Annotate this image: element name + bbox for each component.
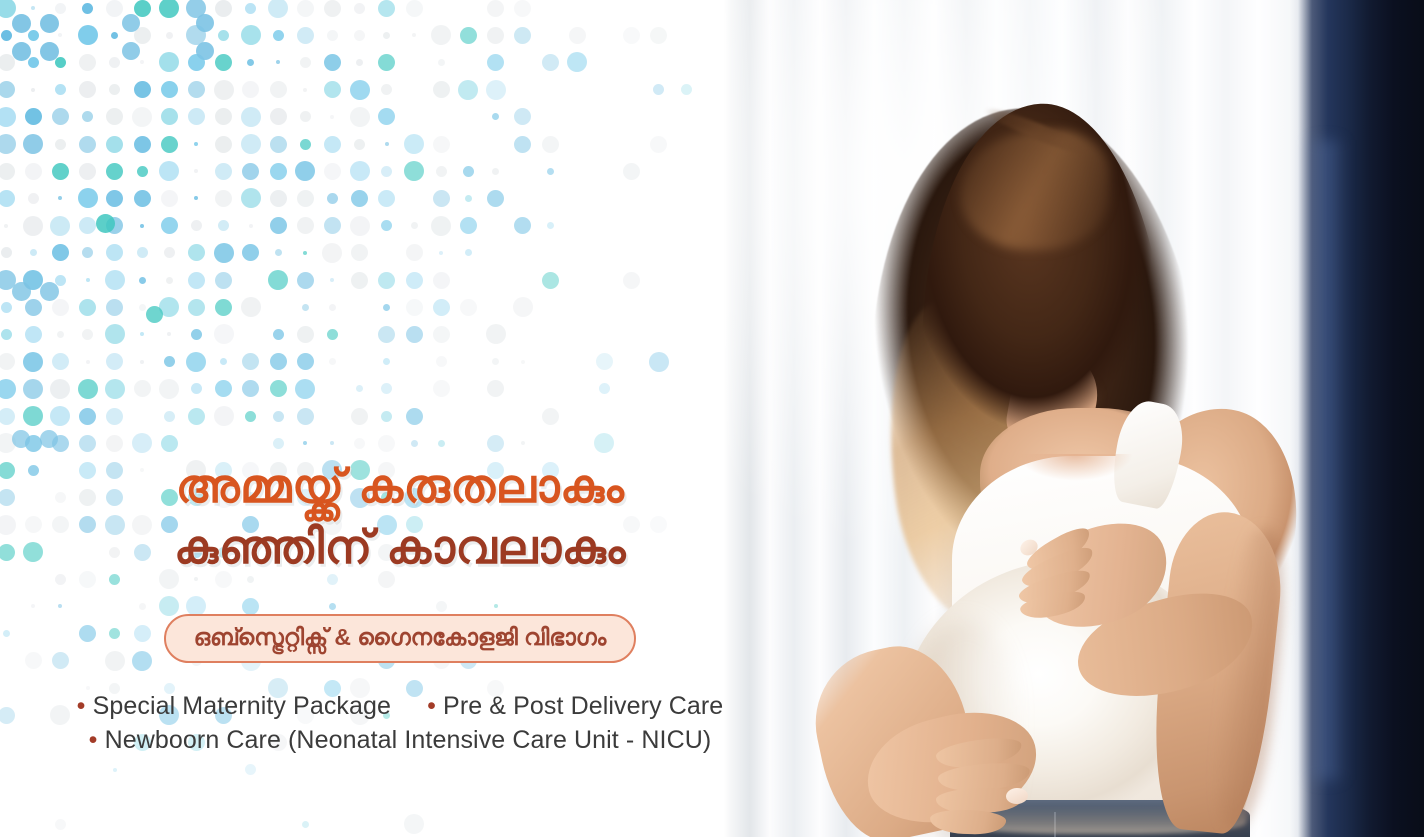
pattern-dot bbox=[1, 30, 12, 41]
pattern-dot bbox=[275, 249, 282, 256]
pattern-dot bbox=[96, 214, 115, 233]
pattern-dot bbox=[247, 59, 254, 66]
pattern-dot bbox=[241, 107, 261, 127]
pattern-dot bbox=[327, 574, 338, 585]
pattern-dot bbox=[330, 278, 334, 282]
pattern-dot bbox=[161, 81, 178, 98]
pattern-dot bbox=[324, 0, 341, 17]
pattern-dot bbox=[159, 379, 179, 399]
pattern-dot bbox=[514, 136, 531, 153]
pattern-dot bbox=[487, 27, 504, 44]
pattern-dot bbox=[166, 277, 173, 284]
pattern-dot bbox=[0, 433, 16, 453]
pattern-dot bbox=[378, 108, 395, 125]
pattern-dot bbox=[40, 42, 59, 61]
pattern-dot bbox=[220, 358, 227, 365]
pattern-dot bbox=[569, 27, 586, 44]
pattern-dot bbox=[139, 304, 146, 311]
pattern-dot bbox=[599, 383, 610, 394]
pattern-dot bbox=[356, 59, 363, 66]
pattern-dot bbox=[79, 571, 96, 588]
pattern-dot bbox=[188, 54, 205, 71]
pattern-dot bbox=[406, 408, 423, 425]
feature-item-special-maternity-package: Special Maternity Package bbox=[93, 692, 391, 720]
pattern-dot bbox=[327, 30, 338, 41]
pattern-dot bbox=[297, 408, 314, 425]
pattern-dot bbox=[31, 6, 35, 10]
pattern-dot bbox=[351, 408, 368, 425]
pattern-dot bbox=[52, 244, 69, 261]
pattern-dot bbox=[214, 406, 234, 426]
pattern-dot bbox=[0, 134, 16, 154]
pattern-dot bbox=[245, 764, 256, 775]
pattern-dot bbox=[79, 217, 96, 234]
pattern-dot bbox=[436, 601, 447, 612]
pattern-dot bbox=[681, 84, 692, 95]
maternity-banner: അമ്മയ്ക്ക് കരുതലാകും കുഞ്ഞിന് കാവലാകും ഒ… bbox=[0, 0, 1424, 837]
pattern-dot bbox=[194, 169, 198, 173]
pattern-dot bbox=[106, 217, 123, 234]
pattern-dot bbox=[322, 243, 342, 263]
pattern-dot bbox=[381, 220, 392, 231]
pattern-dot bbox=[188, 272, 205, 289]
pattern-dot bbox=[297, 272, 314, 289]
pattern-dot bbox=[514, 27, 531, 44]
pattern-dot bbox=[411, 440, 418, 447]
pattern-dot bbox=[295, 161, 315, 181]
pattern-dot bbox=[106, 408, 123, 425]
pattern-dot bbox=[215, 190, 232, 207]
pattern-dot bbox=[350, 161, 370, 181]
pattern-dot bbox=[79, 435, 96, 452]
pattern-dot bbox=[137, 166, 148, 177]
pattern-dot bbox=[513, 297, 533, 317]
pattern-dot bbox=[194, 142, 198, 146]
pattern-dot bbox=[109, 574, 120, 585]
pattern-dot bbox=[487, 54, 504, 71]
pattern-dot bbox=[55, 57, 66, 68]
pattern-dot bbox=[378, 326, 395, 343]
pattern-dot bbox=[106, 163, 123, 180]
pattern-dot bbox=[247, 576, 254, 583]
pattern-dot bbox=[134, 190, 151, 207]
pattern-dot bbox=[23, 216, 43, 236]
headline-line-2: കുഞ്ഞിന് കാവലാകും bbox=[0, 523, 800, 570]
pattern-dot bbox=[300, 57, 311, 68]
pattern-dot bbox=[28, 193, 39, 204]
pattern-dot bbox=[4, 224, 8, 228]
pattern-dot bbox=[82, 111, 93, 122]
pattern-dot bbox=[0, 0, 16, 18]
pattern-dot bbox=[383, 32, 390, 39]
pattern-dot bbox=[324, 136, 341, 153]
pattern-dot bbox=[378, 0, 395, 17]
pattern-dot bbox=[406, 272, 423, 289]
pattern-dot bbox=[542, 136, 559, 153]
pattern-dot bbox=[350, 216, 370, 236]
pattern-dot bbox=[215, 272, 232, 289]
pattern-dot bbox=[354, 139, 365, 150]
pattern-dot bbox=[0, 379, 16, 399]
pattern-dot bbox=[166, 32, 173, 39]
pattern-dot bbox=[215, 571, 232, 588]
pattern-dot bbox=[106, 353, 123, 370]
pattern-dot bbox=[404, 161, 424, 181]
pattern-dot bbox=[191, 220, 202, 231]
pattern-dot bbox=[356, 385, 363, 392]
pattern-dot bbox=[302, 821, 309, 828]
pattern-dot bbox=[324, 54, 341, 71]
pattern-dot bbox=[140, 60, 144, 64]
pattern-dot bbox=[137, 247, 148, 258]
pattern-dot bbox=[381, 84, 392, 95]
pattern-dot bbox=[596, 353, 613, 370]
pattern-dot bbox=[146, 306, 163, 323]
pattern-dot bbox=[270, 108, 287, 125]
pattern-dot bbox=[297, 326, 314, 343]
pattern-dot bbox=[433, 136, 450, 153]
pattern-dot bbox=[297, 27, 314, 44]
pattern-dot bbox=[273, 329, 284, 340]
pattern-dot bbox=[188, 408, 205, 425]
pattern-dot bbox=[159, 297, 179, 317]
pattern-dot bbox=[25, 108, 42, 125]
pattern-dot bbox=[214, 80, 234, 100]
pattern-dot bbox=[55, 139, 66, 150]
pattern-dot bbox=[1, 302, 12, 313]
pattern-dot bbox=[487, 0, 504, 17]
pattern-dot bbox=[12, 430, 30, 448]
pattern-dot bbox=[188, 108, 205, 125]
pattern-dot bbox=[218, 220, 229, 231]
pattern-dot bbox=[40, 430, 58, 448]
pattern-dot bbox=[514, 0, 531, 17]
pattern-dot bbox=[140, 332, 144, 336]
pattern-dot bbox=[378, 272, 395, 289]
pattern-dot bbox=[57, 331, 64, 338]
pattern-dot bbox=[460, 299, 477, 316]
pattern-dot bbox=[383, 358, 390, 365]
pattern-dot bbox=[188, 244, 205, 261]
pattern-dot bbox=[270, 353, 287, 370]
pattern-dot bbox=[378, 190, 395, 207]
pattern-dot bbox=[650, 27, 667, 44]
feature-row-1: • Special Maternity Package • Pre & Post… bbox=[0, 690, 800, 724]
pattern-dot bbox=[215, 0, 232, 17]
pattern-dot bbox=[31, 88, 35, 92]
pattern-dot bbox=[329, 358, 336, 365]
feature-item-newborn-care-nicu: Newboorn Care (Neonatal Intensive Care U… bbox=[105, 726, 712, 754]
feature-row-2: • Newboorn Care (Neonatal Intensive Care… bbox=[0, 724, 800, 758]
pattern-dot bbox=[164, 247, 175, 258]
pattern-dot bbox=[109, 57, 120, 68]
pattern-dot bbox=[106, 190, 123, 207]
pattern-dot bbox=[161, 108, 178, 125]
pattern-dot bbox=[412, 33, 416, 37]
pattern-dot bbox=[270, 380, 287, 397]
pattern-dot bbox=[487, 190, 504, 207]
pattern-dot bbox=[542, 272, 559, 289]
pattern-dot bbox=[438, 440, 445, 447]
pattern-dot bbox=[105, 270, 125, 290]
pattern-dot bbox=[215, 54, 232, 71]
pattern-dot bbox=[594, 433, 614, 453]
pattern-dot bbox=[134, 380, 151, 397]
pattern-dot bbox=[82, 329, 93, 340]
pattern-dot bbox=[55, 574, 66, 585]
pattern-dot bbox=[297, 217, 314, 234]
pattern-dot bbox=[245, 3, 256, 14]
pattern-dot bbox=[122, 14, 140, 32]
pattern-dot bbox=[215, 136, 232, 153]
pattern-dot bbox=[542, 54, 559, 71]
pattern-dot bbox=[139, 603, 146, 610]
pattern-dot bbox=[406, 326, 423, 343]
pattern-dot bbox=[186, 352, 206, 372]
pattern-dot bbox=[404, 814, 424, 834]
pattern-dot bbox=[385, 142, 389, 146]
pattern-dot bbox=[58, 196, 62, 200]
pattern-dot bbox=[487, 435, 504, 452]
pattern-dot bbox=[270, 163, 287, 180]
pattern-dot bbox=[1, 247, 12, 258]
pattern-dot bbox=[324, 163, 341, 180]
pattern-dot bbox=[303, 88, 307, 92]
pattern-dot bbox=[486, 324, 506, 344]
pattern-dot bbox=[0, 353, 15, 370]
pattern-dot bbox=[12, 14, 31, 33]
pattern-dot bbox=[86, 278, 90, 282]
pattern-dot bbox=[134, 136, 151, 153]
pattern-dot bbox=[327, 329, 338, 340]
pattern-dot bbox=[55, 84, 66, 95]
pattern-dot bbox=[106, 0, 123, 17]
pattern-dot bbox=[330, 115, 334, 119]
pattern-dot bbox=[23, 134, 43, 154]
pattern-dot bbox=[52, 353, 69, 370]
pattern-dot bbox=[12, 282, 31, 301]
pattern-dot bbox=[215, 299, 232, 316]
pattern-dot bbox=[23, 406, 43, 426]
pattern-dot bbox=[486, 80, 506, 100]
pattern-dot bbox=[1, 329, 12, 340]
pattern-dot bbox=[159, 0, 179, 18]
pattern-dot bbox=[132, 433, 152, 453]
pattern-dot bbox=[623, 27, 640, 44]
pattern-dot bbox=[354, 438, 365, 449]
pattern-dot bbox=[186, 0, 206, 18]
pattern-dot bbox=[378, 54, 395, 71]
pattern-dot bbox=[492, 168, 499, 175]
pattern-dot bbox=[458, 80, 478, 100]
pattern-dot bbox=[78, 25, 98, 45]
pattern-dot bbox=[465, 249, 472, 256]
pattern-dot bbox=[438, 59, 445, 66]
pattern-dot bbox=[0, 54, 15, 71]
pattern-dot bbox=[167, 332, 171, 336]
department-badge: ഒബ്സ്ട്രെറ്റിക്സ് & ഗൈനകോളജി വിഭാഗം bbox=[164, 614, 637, 663]
pattern-dot bbox=[111, 32, 118, 39]
pattern-dot bbox=[487, 380, 504, 397]
pattern-dot bbox=[140, 360, 144, 364]
pattern-dot bbox=[649, 352, 669, 372]
pattern-dot bbox=[431, 216, 451, 236]
pattern-dot bbox=[215, 108, 232, 125]
pattern-dot bbox=[547, 222, 554, 229]
pattern-dot bbox=[463, 166, 474, 177]
pattern-dot bbox=[132, 107, 152, 127]
pattern-dot bbox=[109, 84, 120, 95]
pattern-dot bbox=[194, 196, 198, 200]
pattern-dot bbox=[164, 411, 175, 422]
pattern-dot bbox=[492, 113, 499, 120]
pattern-dot bbox=[188, 81, 205, 98]
pattern-dot bbox=[242, 81, 259, 98]
pattern-dot bbox=[245, 411, 256, 422]
pattern-dot bbox=[79, 81, 96, 98]
pattern-dot bbox=[241, 134, 261, 154]
pattern-dot bbox=[122, 42, 140, 60]
pattern-dot bbox=[196, 42, 214, 60]
pattern-dot bbox=[381, 411, 392, 422]
pattern-dot bbox=[106, 244, 123, 261]
pattern-dot bbox=[406, 299, 423, 316]
pattern-dot bbox=[433, 190, 450, 207]
pattern-dot bbox=[270, 136, 287, 153]
pattern-dot bbox=[134, 0, 151, 17]
pattern-dot bbox=[82, 3, 93, 14]
pattern-dot bbox=[164, 356, 175, 367]
pattern-dot bbox=[567, 52, 587, 72]
pattern-dot bbox=[249, 224, 253, 228]
pattern-dot bbox=[140, 224, 144, 228]
pattern-dot bbox=[78, 379, 98, 399]
pattern-dot bbox=[460, 217, 477, 234]
pattern-dot bbox=[351, 244, 368, 261]
pattern-dot bbox=[23, 270, 43, 290]
pattern-dot bbox=[329, 603, 336, 610]
pattern-dot bbox=[433, 81, 450, 98]
pattern-dot bbox=[0, 81, 15, 98]
pattern-dot bbox=[242, 244, 259, 261]
pattern-dot bbox=[433, 272, 450, 289]
pattern-dot bbox=[79, 408, 96, 425]
pattern-dot bbox=[460, 27, 477, 44]
pattern-dot bbox=[105, 379, 125, 399]
pattern-dot bbox=[40, 14, 59, 33]
pattern-dot bbox=[378, 435, 395, 452]
pattern-dot bbox=[50, 216, 70, 236]
headline-line-1: അമ്മയ്ക്ക് കരുതലാകും bbox=[0, 462, 800, 509]
pattern-dot bbox=[23, 352, 43, 372]
pattern-dot bbox=[52, 435, 69, 452]
pattern-dot bbox=[273, 30, 284, 41]
pattern-dot bbox=[431, 25, 451, 45]
pattern-dot bbox=[161, 435, 178, 452]
pattern-dot bbox=[303, 441, 307, 445]
pattern-dot bbox=[105, 324, 125, 344]
pattern-dot bbox=[404, 134, 424, 154]
pattern-dot bbox=[351, 272, 368, 289]
pattern-dot bbox=[324, 81, 341, 98]
pattern-dot bbox=[330, 441, 334, 445]
pattern-dot bbox=[55, 275, 66, 286]
pattern-dot bbox=[351, 190, 368, 207]
pattern-dot bbox=[113, 768, 117, 772]
pattern-dot bbox=[273, 411, 284, 422]
pattern-dot bbox=[28, 30, 39, 41]
pattern-dot bbox=[31, 604, 35, 608]
pattern-dot bbox=[215, 163, 232, 180]
pattern-dot bbox=[242, 380, 259, 397]
pattern-dot bbox=[139, 277, 146, 284]
pattern-dot bbox=[0, 163, 15, 180]
pattern-dot bbox=[354, 3, 365, 14]
pattern-dot bbox=[268, 0, 288, 18]
pattern-dot bbox=[25, 435, 42, 452]
pattern-dot bbox=[242, 353, 259, 370]
pattern-dot bbox=[381, 383, 392, 394]
pattern-dot bbox=[0, 190, 15, 207]
department-badge-wrap: ഒബ്സ്ട്രെറ്റിക്സ് & ഗൈനകോളജി വിഭാഗം bbox=[0, 614, 800, 663]
pattern-dot bbox=[297, 190, 314, 207]
pattern-dot bbox=[25, 326, 42, 343]
pattern-dot bbox=[86, 360, 90, 364]
pattern-dot bbox=[241, 25, 261, 45]
pattern-dot bbox=[433, 326, 450, 343]
pattern-dot bbox=[52, 299, 69, 316]
pattern-dot bbox=[106, 108, 123, 125]
pattern-dot bbox=[0, 270, 16, 290]
feature-list: • Special Maternity Package • Pre & Post… bbox=[0, 690, 800, 757]
pattern-dot bbox=[433, 299, 450, 316]
pattern-dot bbox=[329, 304, 336, 311]
pattern-dot bbox=[25, 163, 42, 180]
pattern-dot bbox=[50, 379, 70, 399]
pattern-dot bbox=[161, 136, 178, 153]
pattern-dot bbox=[327, 193, 338, 204]
pattern-dot bbox=[161, 217, 178, 234]
pattern-dot bbox=[381, 166, 392, 177]
pattern-dot bbox=[215, 380, 232, 397]
pattern-dot bbox=[106, 136, 123, 153]
pattern-dot bbox=[12, 42, 31, 61]
pattern-dot bbox=[159, 161, 179, 181]
hero-photo bbox=[724, 0, 1424, 837]
pattern-dot bbox=[465, 195, 472, 202]
pattern-dot bbox=[218, 30, 229, 41]
pattern-dot bbox=[214, 243, 234, 263]
pattern-dot bbox=[300, 139, 311, 150]
pattern-dot bbox=[159, 52, 179, 72]
feature-item-pre-post-delivery-care: Pre & Post Delivery Care bbox=[443, 692, 723, 720]
pattern-dot bbox=[406, 0, 423, 17]
pattern-dot bbox=[514, 108, 531, 125]
pattern-dot bbox=[191, 383, 202, 394]
pattern-dot bbox=[303, 251, 307, 255]
pattern-dot bbox=[82, 247, 93, 258]
pattern-dot bbox=[188, 299, 205, 316]
pattern-dot bbox=[324, 217, 341, 234]
pattern-dot bbox=[270, 81, 287, 98]
pattern-dot bbox=[436, 356, 447, 367]
pattern-dot bbox=[521, 360, 525, 364]
pattern-dot bbox=[276, 60, 280, 64]
pattern-dot bbox=[194, 577, 198, 581]
pattern-dot bbox=[186, 25, 206, 45]
pattern-dot bbox=[270, 217, 287, 234]
pattern-dot bbox=[411, 222, 418, 229]
